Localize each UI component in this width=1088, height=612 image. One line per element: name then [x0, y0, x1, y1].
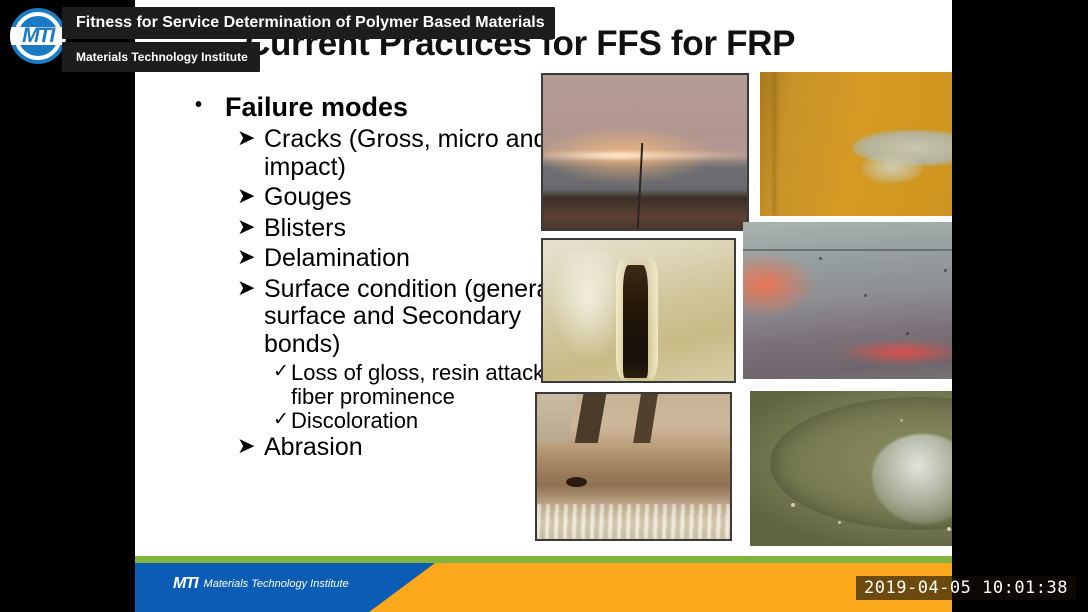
bullet-marker-arrow: ➤: [237, 126, 264, 151]
footer-logo-text: MTI: [173, 575, 198, 593]
bullet-marker-check: ✓: [273, 361, 291, 383]
webinar-title: Fitness for Service Determination of Pol…: [76, 14, 545, 32]
bullet-text: Delamination: [264, 245, 585, 273]
photo-ochre-coating-damage: [760, 72, 952, 216]
bullet-item-abrasion: ➤ Abrasion: [237, 434, 585, 462]
bullet-item-delamination: ➤ Delamination: [237, 245, 585, 273]
mti-logo-icon: MTI: [10, 8, 66, 64]
footer-institute-name: Materials Technology Institute: [204, 578, 349, 590]
bullet-list: • Failure modes ➤ Cracks (Gross, micro a…: [195, 92, 585, 464]
bullet-marker-arrow: ➤: [237, 245, 264, 270]
photo-abraded-tan-surface: [535, 392, 732, 541]
recording-timestamp: 2019-04-05 10:01:38: [856, 576, 1076, 600]
left-letterbox-bar: [0, 0, 135, 612]
webinar-subtitle-bar: Materials Technology Institute: [62, 42, 260, 72]
bullet-text: Cracks (Gross, micro and impact): [264, 126, 585, 181]
bullet-item-gouges: ➤ Gouges: [237, 184, 585, 212]
bullet-item-blisters: ➤ Blisters: [237, 215, 585, 243]
bullet-text: Blisters: [264, 215, 585, 243]
bullet-marker-arrow: ➤: [237, 434, 264, 459]
footer-mti-logo: MTI Materials Technology Institute: [173, 575, 349, 593]
bullet-marker-arrow: ➤: [237, 184, 264, 209]
bullet-item-surface-condition: ➤ Surface condition (general surface and…: [237, 276, 585, 359]
screen-recording-frame: Current Practices for FFS for FRP • Fail…: [0, 0, 1088, 612]
mti-logo-text: MTI: [10, 25, 66, 46]
bullet-text: Failure modes: [225, 92, 585, 122]
bullet-marker-arrow: ➤: [237, 276, 264, 301]
bullet-marker-arrow: ➤: [237, 215, 264, 240]
photo-fiberglass-laminate-crack: [541, 238, 736, 383]
photo-gray-vessel-interior: [743, 222, 952, 379]
webinar-title-bar: Fitness for Service Determination of Pol…: [62, 7, 555, 39]
bullet-item-cracks: ➤ Cracks (Gross, micro and impact): [237, 126, 585, 181]
bullet-marker-dot: •: [195, 92, 225, 119]
bullet-text: Gouges: [264, 184, 585, 212]
webinar-subtitle: Materials Technology Institute: [76, 50, 248, 64]
slide-footer: MTI Materials Technology Institute: [135, 556, 952, 612]
right-letterbox-bar: [952, 0, 1088, 612]
footer-green-stripe: [135, 556, 952, 563]
photo-olive-surface-blister: [750, 391, 952, 546]
bullet-marker-check: ✓: [273, 409, 291, 431]
bullet-item-failure-modes: • Failure modes: [195, 92, 585, 122]
presentation-slide: Current Practices for FFS for FRP • Fail…: [135, 0, 952, 612]
photo-cracked-pipe-surface: [541, 73, 749, 231]
bullet-text: Surface condition (general surface and S…: [264, 276, 585, 359]
